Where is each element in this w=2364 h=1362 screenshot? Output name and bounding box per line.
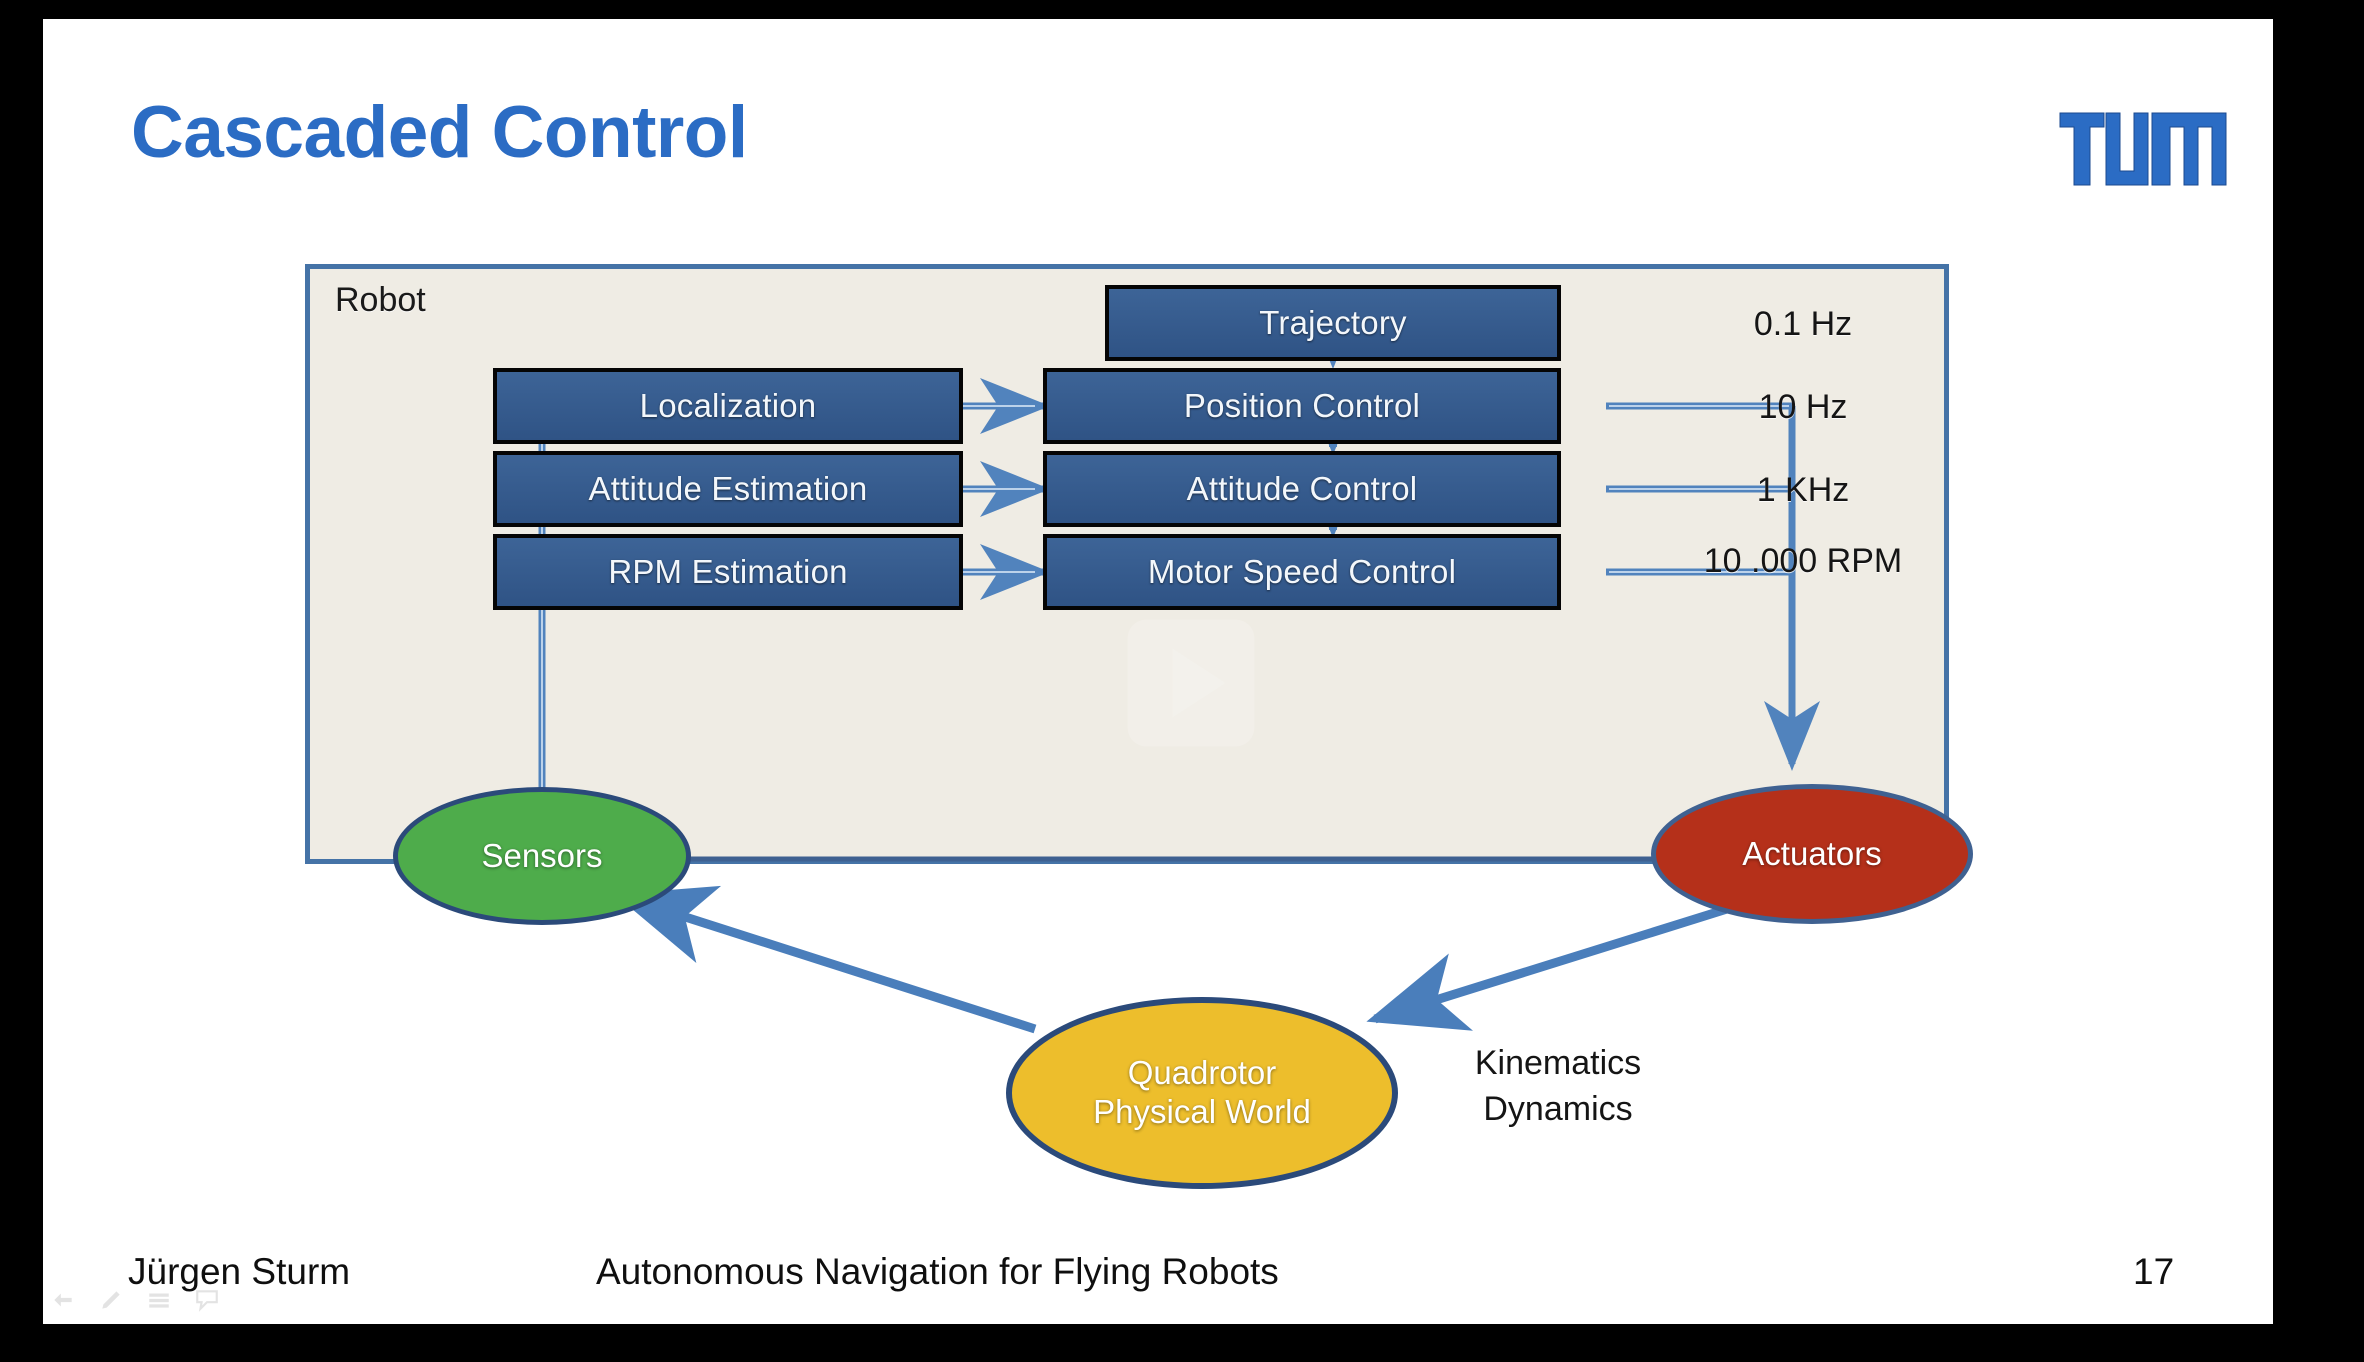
- node-sensors[interactable]: Sensors: [393, 787, 691, 925]
- box-label: Position Control: [1184, 387, 1420, 425]
- box-label: RPM Estimation: [608, 553, 847, 591]
- frequency-label-trajectory: 0.1 Hz: [1703, 304, 1903, 345]
- box-label: Motor Speed Control: [1148, 553, 1456, 591]
- tum-logo: [2058, 111, 2228, 187]
- box-label: Trajectory: [1259, 304, 1406, 342]
- page-title: Cascaded Control: [131, 91, 748, 174]
- pen-icon[interactable]: [96, 1287, 126, 1313]
- kinematics-dynamics-annotation: Kinematics Dynamics: [1443, 1041, 1673, 1133]
- menu-icon[interactable]: [144, 1287, 174, 1313]
- annotation-line2: Dynamics: [1443, 1087, 1673, 1133]
- video-letterbox-frame: Cascaded Control Robot: [0, 0, 2364, 1362]
- node-quadrotor-physical-world[interactable]: Quadrotor Physical World: [1006, 997, 1398, 1189]
- laser-pointer-icon[interactable]: [192, 1287, 222, 1313]
- footer-page-number: 17: [2133, 1251, 2174, 1293]
- node-label-line1: Quadrotor: [1128, 1054, 1277, 1091]
- back-arrow-icon[interactable]: [48, 1287, 78, 1313]
- node-label: Sensors: [481, 837, 602, 876]
- node-label-line2: Physical World: [1093, 1093, 1311, 1130]
- presenter-toolbar[interactable]: [48, 1279, 238, 1321]
- presentation-slide: Cascaded Control Robot: [43, 19, 2273, 1324]
- box-label: Localization: [640, 387, 817, 425]
- box-motor-speed-control[interactable]: Motor Speed Control: [1043, 534, 1561, 610]
- annotation-line1: Kinematics: [1443, 1041, 1673, 1087]
- footer-course-title: Autonomous Navigation for Flying Robots: [596, 1251, 1279, 1293]
- robot-container-label: Robot: [335, 281, 426, 320]
- box-position-control[interactable]: Position Control: [1043, 368, 1561, 444]
- box-trajectory[interactable]: Trajectory: [1105, 285, 1561, 361]
- box-attitude-control[interactable]: Attitude Control: [1043, 451, 1561, 527]
- node-label: Quadrotor Physical World: [1093, 1054, 1311, 1132]
- box-attitude-estimation[interactable]: Attitude Estimation: [493, 451, 963, 527]
- node-actuators[interactable]: Actuators: [1651, 784, 1973, 924]
- box-rpm-estimation[interactable]: RPM Estimation: [493, 534, 963, 610]
- box-label: Attitude Control: [1187, 470, 1418, 508]
- box-label: Attitude Estimation: [589, 470, 868, 508]
- frequency-label-position: 10 Hz: [1703, 387, 1903, 428]
- frequency-label-motor: 10 .000 RPM: [1703, 541, 1903, 582]
- node-label: Actuators: [1742, 835, 1881, 874]
- frequency-label-attitude: 1 KHz: [1703, 470, 1903, 511]
- box-localization[interactable]: Localization: [493, 368, 963, 444]
